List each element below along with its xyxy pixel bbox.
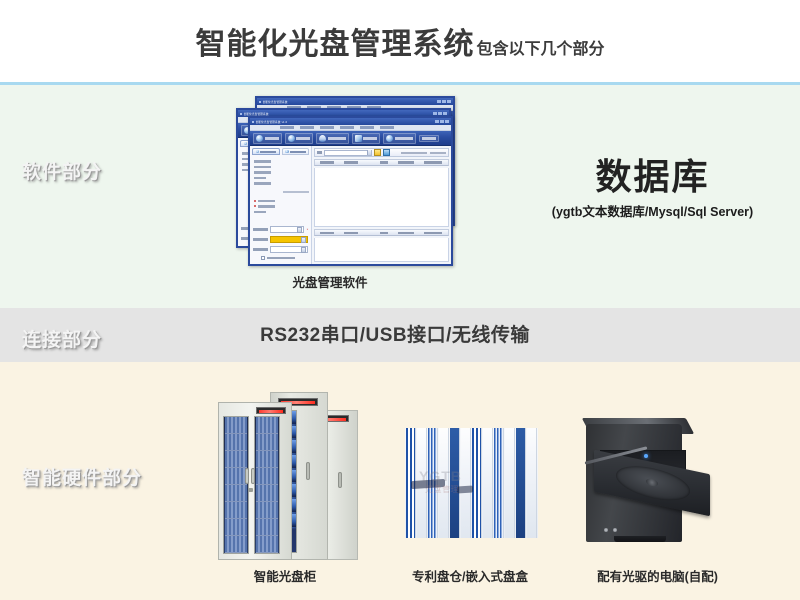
side-field: [254, 177, 307, 180]
app-icon: [252, 121, 254, 123]
content-area: [312, 146, 451, 264]
app-icon: [259, 101, 261, 103]
cabinet-handle-right: [251, 468, 255, 484]
table-header-bottom: [314, 229, 449, 236]
side-input-group: *: [252, 226, 309, 262]
photo-smart-disc-cabinet: [218, 378, 358, 560]
folder-icon[interactable]: [374, 149, 381, 156]
toolbar-button-retrieve[interactable]: [383, 133, 416, 144]
window-controls[interactable]: [433, 112, 447, 115]
cabinet-handle-left: [245, 468, 249, 484]
side-checkbox[interactable]: [253, 256, 308, 260]
side-field: [254, 211, 307, 214]
caption-software: 光盘管理软件: [230, 272, 430, 291]
slide-root: 智能化光盘管理系统 包含以下几个部分 软件部分 连接部分 智能硬件部分 智能化光…: [0, 0, 800, 600]
window-titlebar: 智能化光盘管理系统 v1.0: [250, 118, 451, 125]
app-icon: [240, 113, 242, 115]
side-input-row-highlighted[interactable]: [253, 236, 308, 243]
section-label-hardware: 智能硬件部分: [22, 463, 142, 490]
cabinet-front: [218, 402, 292, 560]
software-screenshot-group: 智能化光盘管理系统: [228, 96, 508, 271]
side-field: [254, 182, 307, 185]
watermark-subtext: 光盘管理: [425, 484, 459, 495]
side-tab-cabinet-info[interactable]: [282, 148, 310, 155]
toolbar-button-disc-query[interactable]: [316, 133, 349, 144]
side-field: [254, 166, 307, 169]
led-display-icon: [256, 407, 286, 414]
photo-disc-tray: YGTB 光盘管理: [405, 428, 538, 538]
table-body-top[interactable]: [314, 168, 449, 227]
database-subtitle: (ygtb文本数据库/Mysql/Sql Server): [510, 201, 795, 220]
cabinet-door-right: [254, 416, 280, 554]
side-field-list: [252, 157, 309, 185]
window-title: 智能化光盘管理系统: [263, 100, 288, 104]
side-field-required: [254, 205, 307, 208]
side-input-row[interactable]: [253, 246, 308, 253]
window-title: 智能化光盘管理系统 v1.0: [256, 120, 288, 124]
power-led-icon: [644, 454, 648, 458]
cabinet-handle: [306, 462, 310, 480]
toolbar-button-disc-out[interactable]: [285, 133, 314, 144]
refresh-icon[interactable]: [383, 149, 390, 156]
section-label-software: 软件部分: [22, 157, 102, 184]
toolbar[interactable]: [250, 131, 451, 146]
side-required-fields: [252, 197, 309, 214]
connection-text-value: RS232串口/USB接口/无线传输: [260, 325, 530, 346]
side-tab-disc-info[interactable]: [252, 148, 280, 155]
window-body: *: [250, 146, 451, 264]
cabinet-lock-icon: [248, 488, 253, 492]
window-controls[interactable]: [437, 100, 451, 103]
database-title: 数据库: [510, 158, 795, 196]
window-controls[interactable]: [435, 120, 449, 123]
table-body-bottom[interactable]: [314, 238, 449, 262]
side-input-row[interactable]: *: [253, 226, 308, 233]
side-note: [283, 191, 309, 193]
slide-header: 智能化光盘管理系统 包含以下几个部分: [0, 0, 800, 82]
table-header-top: [314, 159, 449, 166]
page-subtitle: 包含以下几个部分: [476, 35, 604, 59]
front-buttons: [604, 528, 617, 532]
side-field: [254, 171, 307, 174]
window-titlebar: 智能化光盘管理系统: [257, 98, 453, 105]
cabinet-handle: [338, 472, 342, 488]
caption-cabinet: 智能光盘柜: [205, 566, 365, 585]
toolbar-button-disc-in[interactable]: [253, 133, 282, 144]
search-input[interactable]: [324, 150, 372, 156]
search-row[interactable]: [314, 148, 449, 157]
cabinet-door-left: [223, 416, 249, 554]
side-field: [254, 160, 307, 163]
caption-disc-tray: 专利盘仓/嵌入式盘盒: [385, 566, 555, 585]
toolbar-button-system-settings[interactable]: [352, 133, 381, 144]
watermark-text: YGTB: [419, 468, 462, 484]
window-title: 智能化光盘管理系统: [244, 112, 269, 116]
side-field-required: [254, 200, 307, 203]
connection-text: RS232串口/USB接口/无线传输: [0, 320, 800, 347]
app-window-front: 智能化光盘管理系统 v1.0: [248, 116, 453, 266]
side-tabs[interactable]: [252, 148, 309, 155]
toolbar-button-help[interactable]: [419, 135, 439, 142]
page-title: 智能化光盘管理系统: [195, 19, 474, 63]
side-panel: *: [250, 146, 312, 264]
caption-computer: 配有光驱的电脑(自配): [565, 566, 750, 585]
database-block: 数据库 (ygtb文本数据库/Mysql/Sql Server): [510, 158, 795, 220]
photo-computer-with-optical-drive: [578, 418, 718, 544]
